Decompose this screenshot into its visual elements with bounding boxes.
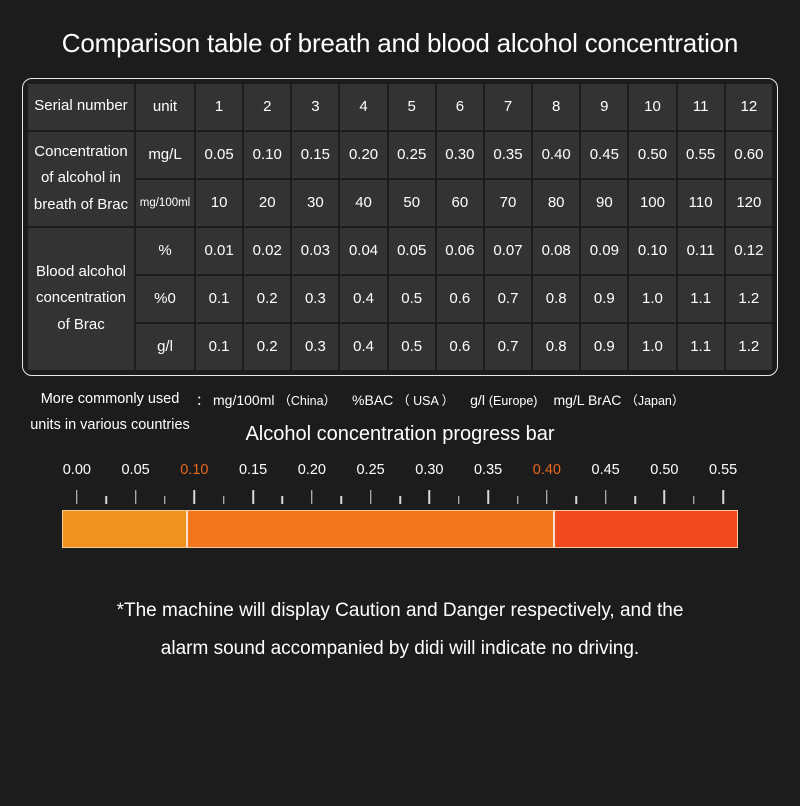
table-cell: 1.2 [726,324,772,370]
table-cell: 20 [244,180,290,226]
scale-tick-minor [282,496,284,504]
table-cell: 0.09 [581,228,627,274]
table-cell: 0.20 [340,132,386,178]
table-cell: 0.05 [196,132,242,178]
table-cell: 70 [485,180,531,226]
table-serial-header-1: 1 [196,84,242,130]
table-cell: 0.01 [196,228,242,274]
table-unit-cell: g/l [136,324,194,370]
table-cell: 0.1 [196,276,242,322]
countries-colon: ： [196,393,209,408]
progress-segment-caution[interactable] [186,511,554,547]
table-cell: 1.0 [629,324,675,370]
table-cell: 0.6 [437,324,483,370]
table-cell: 0.03 [292,228,338,274]
table-cell: 1.0 [629,276,675,322]
table-cell: 0.15 [292,132,338,178]
table-unit-cell: mg/L [136,132,194,178]
table-cell: 0.5 [389,324,435,370]
scale-tick-major [429,490,431,504]
table-unit-cell: mg/100ml [136,180,194,226]
scale-label-0.15: 0.15 [239,462,267,478]
table-cell: 0.11 [678,228,724,274]
scale-tick-minor [223,496,225,504]
progress-segment-danger[interactable] [553,511,737,547]
scale-tick-major [76,490,78,504]
scale-tick-major [605,490,607,504]
table-serial-header-4: 4 [340,84,386,130]
table-cell: 110 [678,180,724,226]
scale-tick-major [546,490,548,504]
table-serial-header-11: 11 [678,84,724,130]
progress-segment-safe[interactable] [63,511,186,547]
table-cell: 90 [581,180,627,226]
countries-note-values: ：mg/100ml （China）%BAC （ USA ）g/l (Europe… [196,386,776,409]
country-unit-name: g/l [470,392,489,408]
table-serial-header-7: 7 [485,84,531,130]
table-cell: 0.04 [340,228,386,274]
table-cell: 0.07 [485,228,531,274]
country-unit-item: mg/L BrAC （Japan） [553,390,684,409]
scale-label-0.50: 0.50 [650,462,678,478]
table-cell: 0.2 [244,276,290,322]
table-unit-cell: % [136,228,194,274]
progress-scale-labels: 0.000.050.100.150.200.250.300.350.400.45… [62,462,738,484]
table-cell: 0.9 [581,276,627,322]
country-unit-name: %BAC [352,392,397,408]
table-cell: 0.7 [485,276,531,322]
table-unit-cell: %0 [136,276,194,322]
page-root: Comparison table of breath and blood alc… [0,0,800,806]
scale-label-0.40: 0.40 [533,462,561,478]
scale-tick-major [135,490,137,504]
table-cell: 0.06 [437,228,483,274]
table-cell: 80 [533,180,579,226]
scale-label-0.10: 0.10 [180,462,208,478]
table-cell: 1.2 [726,276,772,322]
table-cell: 0.4 [340,276,386,322]
table-row: g/l0.10.20.30.40.50.60.70.80.91.01.11.2 [28,324,772,370]
table-cell: 0.9 [581,324,627,370]
progress-bar-block: 0.000.050.100.150.200.250.300.350.400.45… [62,462,738,548]
table-cell: 0.10 [244,132,290,178]
footer-note: *The machine will display Caution and Da… [0,592,800,668]
country-name: （Japan） [625,394,684,408]
table-unit-header: unit [136,84,194,130]
table-row: Concentration of alcohol in breath of Br… [28,132,772,178]
table-cell: 0.60 [726,132,772,178]
scale-label-0.55: 0.55 [709,462,737,478]
table-cell: 120 [726,180,772,226]
table-cell: 0.1 [196,324,242,370]
table-cell: 0.05 [389,228,435,274]
scale-tick-minor [458,496,460,504]
table-cell: 0.45 [581,132,627,178]
table-cell: 0.12 [726,228,772,274]
country-name: （ USA ） [397,394,454,408]
scale-tick-minor [340,496,342,504]
group-label-blood: Blood alcohol concentration of Brac [28,228,134,370]
table-cell: 0.5 [389,276,435,322]
scale-tick-minor [399,496,401,504]
table-cell: 0.40 [533,132,579,178]
table-serial-header-8: 8 [533,84,579,130]
table-cell: 0.25 [389,132,435,178]
table-row: %00.10.20.30.40.50.60.70.80.91.01.11.2 [28,276,772,322]
table-cell: 10 [196,180,242,226]
table-cell: 40 [340,180,386,226]
scale-tick-major [487,490,489,504]
table-cell: 0.55 [678,132,724,178]
table-cell: 30 [292,180,338,226]
table-cell: 0.7 [485,324,531,370]
table-serial-header-5: 5 [389,84,435,130]
scale-label-0.00: 0.00 [63,462,91,478]
country-unit-item: g/l (Europe) [470,392,537,408]
table-cell: 1.1 [678,324,724,370]
group-label-breath: Concentration of alcohol in breath of Br… [28,132,134,226]
progress-scale-ticks [62,488,738,504]
table-cell: 0.10 [629,228,675,274]
table-cell: 0.8 [533,324,579,370]
scale-tick-minor [164,496,166,504]
comparison-table: Serial numberunit123456789101112Concentr… [26,82,774,372]
scale-tick-major [722,490,724,504]
scale-tick-major [664,490,666,504]
table-cell: 0.3 [292,276,338,322]
scale-tick-minor [576,496,578,504]
scale-tick-major [194,490,196,504]
country-unit-name: mg/100ml [213,392,278,408]
table-corner-label: Serial number [28,84,134,130]
scale-label-0.25: 0.25 [356,462,384,478]
scale-tick-minor [693,496,695,504]
page-title: Comparison table of breath and blood alc… [0,0,800,58]
scale-label-0.35: 0.35 [474,462,502,478]
scale-label-0.30: 0.30 [415,462,443,478]
scale-tick-minor [634,496,636,504]
table-serial-header-10: 10 [629,84,675,130]
table-serial-header-2: 2 [244,84,290,130]
country-unit-name: mg/L BrAC [553,392,625,408]
table-cell: 0.4 [340,324,386,370]
scale-tick-major [311,490,313,504]
table-header-row: Serial numberunit123456789101112 [28,84,772,130]
scale-tick-major [252,490,254,504]
country-unit-item: %BAC （ USA ） [352,390,454,409]
scale-tick-minor [105,496,107,504]
scale-tick-major [370,490,372,504]
table-cell: 50 [389,180,435,226]
scale-label-0.20: 0.20 [298,462,326,478]
countries-note-label: More commonly used units in various coun… [24,386,196,440]
table-serial-header-9: 9 [581,84,627,130]
table-cell: 100 [629,180,675,226]
table-cell: 0.3 [292,324,338,370]
country-unit-item: mg/100ml （China） [213,390,336,409]
table-cell: 0.6 [437,276,483,322]
scale-label-0.05: 0.05 [121,462,149,478]
scale-label-0.45: 0.45 [592,462,620,478]
table-serial-header-6: 6 [437,84,483,130]
table-row: mg/100ml102030405060708090100110120 [28,180,772,226]
scale-tick-minor [517,496,519,504]
country-name: (Europe) [489,394,538,408]
progress-track[interactable] [62,510,738,548]
country-name: （China） [278,394,336,408]
table-cell: 0.02 [244,228,290,274]
table-cell: 60 [437,180,483,226]
table-cell: 0.35 [485,132,531,178]
table-serial-header-3: 3 [292,84,338,130]
table-cell: 0.30 [437,132,483,178]
table-cell: 1.1 [678,276,724,322]
table-cell: 0.08 [533,228,579,274]
table-serial-header-12: 12 [726,84,772,130]
comparison-table-container: Serial numberunit123456789101112Concentr… [22,78,778,376]
table-cell: 0.50 [629,132,675,178]
footer-line-1: *The machine will display Caution and Da… [40,592,760,630]
table-cell: 0.2 [244,324,290,370]
table-cell: 0.8 [533,276,579,322]
footer-line-2: alarm sound accompanied by didi will ind… [40,630,760,668]
table-row: Blood alcohol concentration of Brac%0.01… [28,228,772,274]
